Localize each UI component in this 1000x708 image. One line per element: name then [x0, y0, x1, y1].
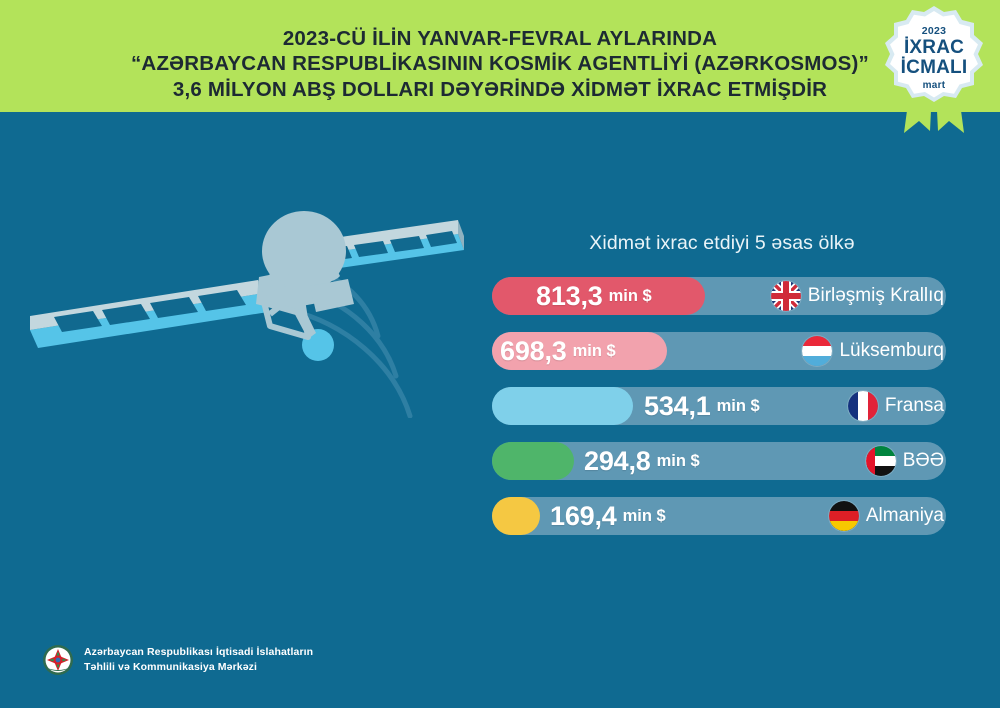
flag-luxembourg-icon — [802, 336, 832, 366]
bar-row: 534,1 min $ Fransa — [492, 387, 952, 425]
chart-title: Xidmət ixrac etdiyi 5 əsas ölkə — [492, 232, 952, 255]
title-line-2: “AZƏRBAYCAN RESPUBLİKASININ KOSMİK AGENT… — [0, 51, 1000, 76]
bar-row: 169,4 min $ Almaniya — [492, 497, 952, 535]
bar-country-name: BƏƏ — [903, 450, 944, 472]
bar-fill — [492, 387, 633, 425]
bar-value-unit: min $ — [623, 507, 666, 526]
bar-country-group: Birləşmiş Krallıq — [771, 277, 944, 315]
bar-chart: Xidmət ixrac etdiyi 5 əsas ölkə 813,3 mi… — [492, 232, 952, 552]
bar-value-label: 294,8 min $ — [584, 442, 700, 480]
bar-fill — [492, 442, 574, 480]
title-line-3: 3,6 MİLYON ABŞ DOLLARI DƏYƏRİNDƏ XİDMƏT … — [0, 77, 1000, 102]
bar-value-number: 813,3 — [536, 281, 603, 312]
satellite-left-panel-icon — [30, 280, 268, 348]
bar-value-number: 534,1 — [644, 391, 711, 422]
bar-fill — [492, 497, 540, 535]
flag-united-kingdom-icon — [771, 281, 801, 311]
bar-country-name: Birləşmiş Krallıq — [808, 285, 944, 307]
bar-row: 698,3 min $ Lüksemburq — [492, 332, 952, 370]
bar-value-label: 169,4 min $ — [550, 497, 666, 535]
footer-org-name: Azərbaycan Respublikası İqtisadi İslahat… — [84, 645, 313, 675]
footer-branding: Azərbaycan Respublikası İqtisadi İslahat… — [42, 644, 313, 676]
bar-value-number: 698,3 — [500, 336, 567, 367]
infographic-page: 2023-CÜ İLİN YANVAR-FEVRAL AYLARINDA “AZ… — [0, 0, 1000, 708]
bar-value-unit: min $ — [717, 397, 760, 416]
bar-country-name: Lüksemburq — [839, 340, 944, 362]
satellite-illustration — [18, 108, 488, 418]
bar-row: 813,3 min $ Birləşmiş Krallıq — [492, 277, 952, 315]
title-line-1: 2023-CÜ İLİN YANVAR-FEVRAL AYLARINDA — [0, 26, 1000, 51]
flag-united-arab-emirates-icon — [866, 446, 896, 476]
footer-org-line-1: Azərbaycan Respublikası İqtisadi İslahat… — [84, 645, 313, 660]
bar-row: 294,8 min $ BƏƏ — [492, 442, 952, 480]
bar-value-label: 698,3 min $ — [500, 332, 616, 370]
footer-org-line-2: Təhlili və Kommunikasiya Mərkəzi — [84, 660, 313, 675]
bar-country-group: BƏƏ — [866, 442, 944, 480]
header-banner: 2023-CÜ İLİN YANVAR-FEVRAL AYLARINDA “AZ… — [0, 0, 1000, 112]
page-title: 2023-CÜ İLİN YANVAR-FEVRAL AYLARINDA “AZ… — [0, 26, 1000, 102]
bar-country-name: Almaniya — [866, 505, 944, 527]
flag-germany-icon — [829, 501, 859, 531]
bar-country-name: Fransa — [885, 395, 944, 417]
bar-value-label: 534,1 min $ — [644, 387, 760, 425]
azerbaijan-state-emblem-icon — [42, 644, 74, 676]
badge-rosette-icon — [885, 6, 983, 102]
export-review-badge: 2023 İXRAC İCMALI mart — [874, 2, 994, 134]
bar-value-number: 294,8 — [584, 446, 651, 477]
bar-value-unit: min $ — [573, 342, 616, 361]
flag-france-icon — [848, 391, 878, 421]
bar-value-number: 169,4 — [550, 501, 617, 532]
bar-value-label: 813,3 min $ — [536, 277, 652, 315]
bar-country-group: Lüksemburq — [802, 332, 944, 370]
bar-value-unit: min $ — [609, 287, 652, 306]
bar-country-group: Almaniya — [829, 497, 944, 535]
bar-value-unit: min $ — [657, 452, 700, 471]
bar-country-group: Fransa — [848, 387, 944, 425]
